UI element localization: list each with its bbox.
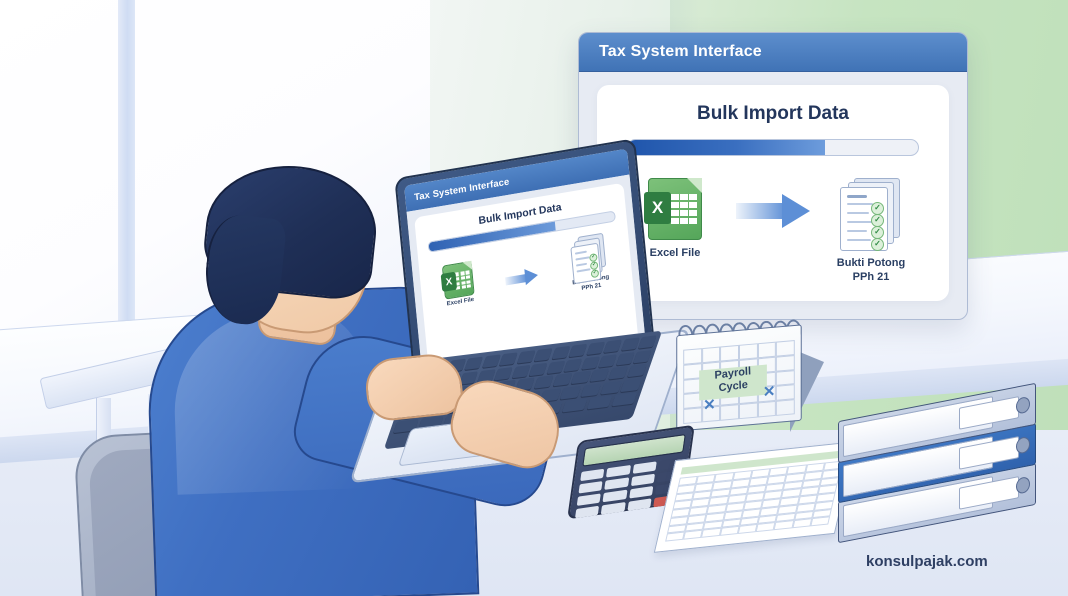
laptop-arrow-icon [505,267,540,290]
panel-title-text: Tax System Interface [599,43,762,61]
documents-stack-icon: ✓ ✓ ✓ ✓ [840,178,902,250]
arrow-right-icon [736,194,810,228]
laptop-documents-icon: ✓ ✓ ✓ [570,233,607,279]
binder-stack [838,396,1068,546]
excel-badge-letter: X [644,192,671,224]
excel-file-icon: X [648,178,702,240]
illustration-scene: Tax System Interface Bulk Import Data X … [0,0,1068,596]
desk-calendar: Payroll Cycle ✕ ✕ [676,324,802,431]
import-progress-bar [627,139,919,156]
calendar-mark-2: ✕ [763,382,776,401]
calendar-mark-1: ✕ [703,395,716,414]
watermark: konsulpajak.com [866,553,988,570]
panel-titlebar: Tax System Interface [579,33,967,72]
panel-card: Bulk Import Data X Excel File [597,85,949,301]
flow-target: ✓ ✓ ✓ ✓ Bukti Potong PPh 21 [823,178,919,285]
import-flow: X Excel File [619,178,927,285]
laptop-excel-icon: X [442,261,475,300]
panel-heading: Bulk Import Data [619,103,927,125]
excel-file-label: Excel File [650,247,701,261]
person-hand-left [363,351,465,423]
import-progress-fill [628,140,825,155]
bukti-potong-label: Bukti Potong PPh 21 [837,257,905,285]
